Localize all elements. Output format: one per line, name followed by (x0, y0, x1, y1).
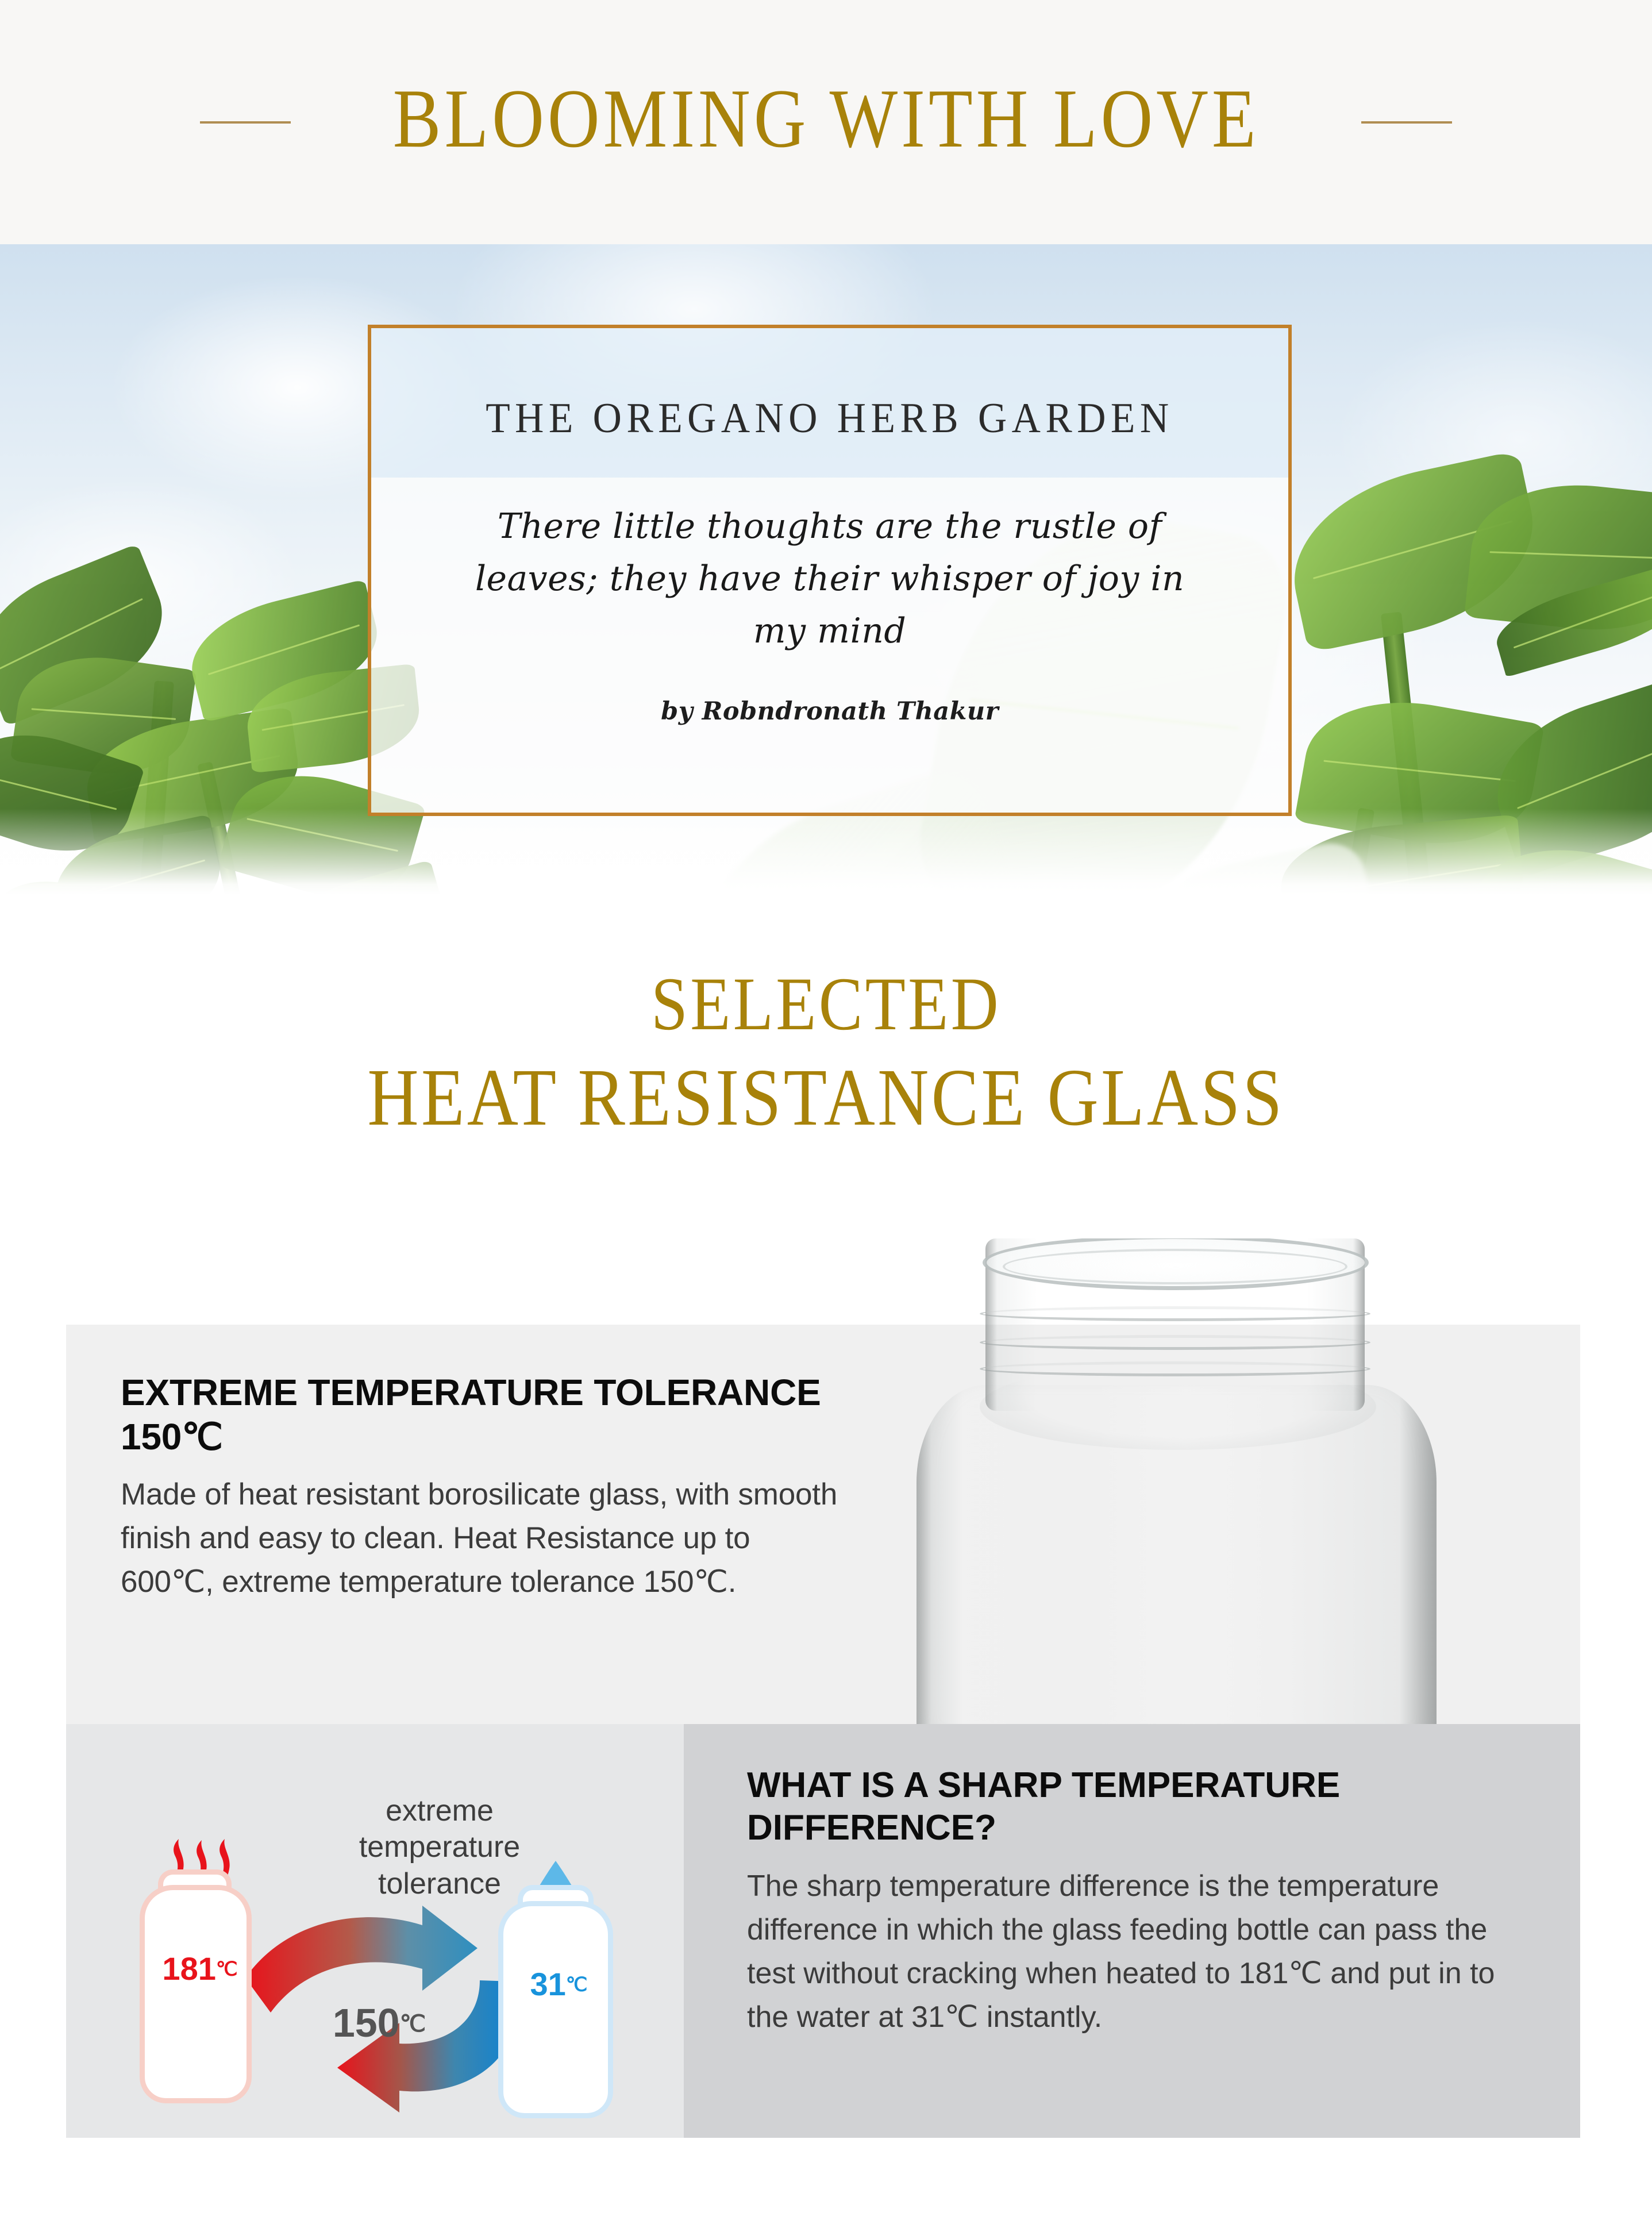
banner-inner: BLOOMING WITH LOVE (0, 0, 1652, 244)
glass-jar-photo (894, 1238, 1462, 1724)
hot-temperature-value: 181 (162, 1950, 215, 1987)
jar-rim-inner (1003, 1249, 1347, 1284)
feature-title: EXTREME TEMPERATURE TOLERANCE 150℃ (121, 1371, 845, 1459)
section-heading: SELECTED HEAT RESISTANCE GLASS (0, 965, 1652, 1138)
banner-rule-left (200, 121, 291, 124)
hot-bottle-icon (140, 1885, 252, 2103)
cold-bottle-icon (498, 1901, 613, 2118)
quote-frame: THE OREGANO HERB GARDEN There little tho… (368, 325, 1292, 816)
hot-temperature-unit: ℃ (216, 1959, 238, 1980)
tolerance-temperature-value: 150 (333, 2000, 400, 2045)
arrow-hot-to-cold (245, 1906, 477, 2013)
temperature-infographic: extreme temperature tolerance 181℃ 31℃ 1… (112, 1776, 675, 2138)
quote-heading: THE OREGANO HERB GARDEN (486, 394, 1173, 443)
glass-jar (894, 1238, 1462, 1724)
hot-temperature-label: 181℃ (145, 1950, 255, 1987)
cold-temperature-value: 31 (530, 1966, 565, 2002)
feature-body: Made of heat resistant borosilicate glas… (121, 1473, 845, 1604)
cold-temperature-unit: ℃ (566, 1975, 588, 1996)
top-banner: BLOOMING WITH LOVE (0, 0, 1652, 244)
banner-title: BLOOMING WITH LOVE (393, 76, 1260, 168)
jar-thread-2 (980, 1335, 1370, 1350)
sharp-difference-body: The sharp temperature difference is the … (747, 1865, 1540, 2040)
quote-content: THE OREGANO HERB GARDEN There little tho… (371, 328, 1288, 813)
jar-thread-1 (980, 1306, 1370, 1321)
section-heading-line2: HEAT RESISTANCE GLASS (107, 1056, 1545, 1139)
banner-rule-right (1361, 121, 1452, 124)
hero-bottom-fade (0, 809, 1652, 895)
sharp-difference-block: WHAT IS A SHARP TEMPERATURE DIFFERENCE? … (747, 1764, 1540, 2039)
quote-text: There little thoughts are the rustle of … (459, 501, 1200, 658)
tolerance-temperature-unit: ℃ (400, 2010, 426, 2037)
sharp-difference-title: WHAT IS A SHARP TEMPERATURE DIFFERENCE? (747, 1764, 1540, 1850)
infographic-caption: extreme temperature tolerance (330, 1793, 549, 1902)
quote-author: by Robndronath Thakur (661, 697, 999, 726)
jar-thread-3 (980, 1361, 1370, 1376)
section-heading-line1: SELECTED (107, 965, 1545, 1043)
cold-temperature-label: 31℃ (503, 1965, 615, 2003)
feature-block: EXTREME TEMPERATURE TOLERANCE 150℃ Made … (121, 1371, 845, 1604)
tolerance-temperature-label: 150℃ (284, 2000, 474, 2046)
